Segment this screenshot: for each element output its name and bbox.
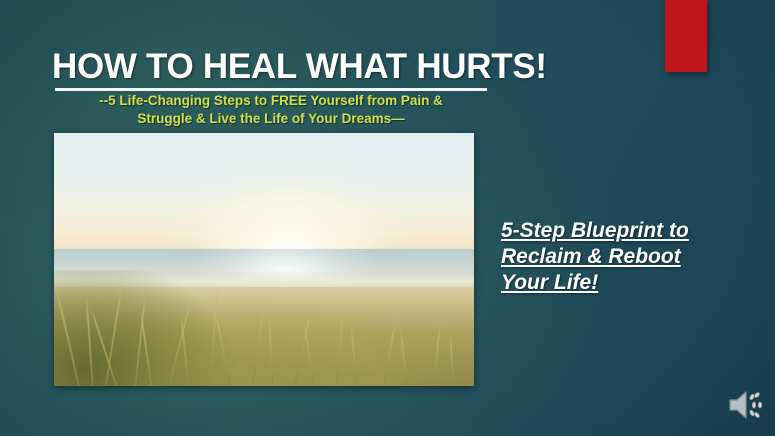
slide-title: HOW TO HEAL WHAT HURTS! xyxy=(52,48,492,86)
slide-subtitle: --5 Life-Changing Steps to FREE Yourself… xyxy=(55,92,487,128)
beach-sunset-photo xyxy=(54,133,474,386)
subtitle-line-2: Struggle & Live the Life of Your Dreams— xyxy=(55,110,487,128)
title-underline-rule xyxy=(55,88,487,91)
red-rectangle-decoration xyxy=(665,0,707,72)
side-headline-text: 5-Step Blueprint to Reclaim & Reboot You… xyxy=(501,218,716,296)
speaker-icon[interactable] xyxy=(726,386,768,424)
photo-dune-grass-layer xyxy=(54,270,474,386)
subtitle-line-1: --5 Life-Changing Steps to FREE Yourself… xyxy=(99,93,443,108)
presentation-slide: HOW TO HEAL WHAT HURTS! --5 Life-Changin… xyxy=(0,0,775,436)
